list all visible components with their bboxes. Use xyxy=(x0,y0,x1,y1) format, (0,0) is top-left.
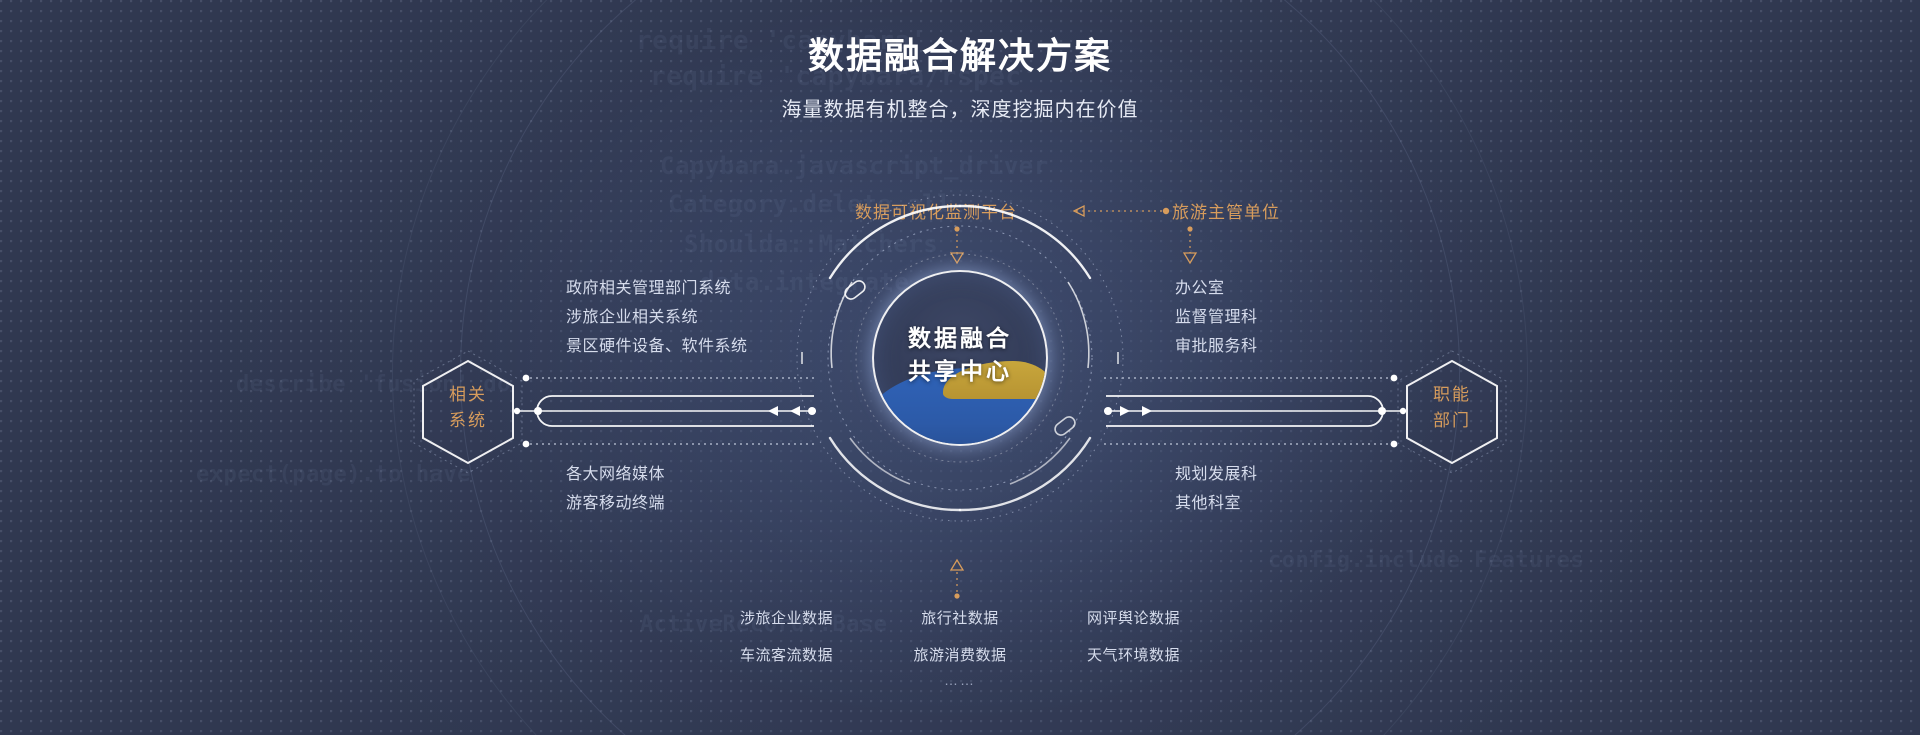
background-code-line: config.include Features xyxy=(1268,548,1584,573)
left-sources-top-list: 政府相关管理部门系统 涉旅企业相关系统 景区硬件设备、软件系统 xyxy=(566,274,748,361)
right-departments-top-list: 办公室 监督管理科 审批服务科 xyxy=(1175,274,1258,361)
bottom-data-ellipsis: …… xyxy=(0,672,1920,688)
bottom-data-cell[interactable]: 旅游消费数据 xyxy=(913,637,1006,674)
page-title: 数据融合解决方案 xyxy=(0,34,1920,77)
list-item[interactable]: 各大网络媒体 xyxy=(566,460,665,489)
hexagon-left-line2: 系统 xyxy=(420,408,516,434)
bottom-data-cell[interactable]: 网评舆论数据 xyxy=(1087,600,1180,637)
list-item[interactable]: 其他科室 xyxy=(1175,489,1258,518)
left-flow-connector xyxy=(516,372,836,450)
background-code-line: Capybara.javascript_driver xyxy=(660,152,1049,180)
list-item[interactable]: 游客移动终端 xyxy=(566,489,665,518)
core-label-line1: 数据融合 xyxy=(850,322,1070,355)
list-item[interactable]: 景区硬件设备、软件系统 xyxy=(566,332,748,361)
hexagon-right-line2: 部门 xyxy=(1404,408,1500,434)
hexagon-functional-departments[interactable]: 职能 部门 xyxy=(1404,358,1500,466)
core-label-line2: 共享中心 xyxy=(850,355,1070,388)
hexagon-related-systems[interactable]: 相关 系统 xyxy=(420,358,516,466)
right-departments-bottom-list: 规划发展科 其他科室 xyxy=(1175,460,1258,518)
bottom-data-cell[interactable]: 天气环境数据 xyxy=(1087,637,1180,674)
list-item[interactable]: 政府相关管理部门系统 xyxy=(566,274,748,303)
bottom-data-row: 车流客流数据 旅游消费数据 天气环境数据 xyxy=(740,637,1180,674)
page-header: 数据融合解决方案 海量数据有机整合，深度挖掘内在价值 xyxy=(0,34,1920,122)
bottom-data-cell[interactable]: 车流客流数据 xyxy=(740,637,833,674)
list-item[interactable]: 办公室 xyxy=(1175,274,1258,303)
left-sources-bottom-list: 各大网络媒体 游客移动终端 xyxy=(566,460,665,518)
bottom-data-grid: 涉旅企业数据 旅行社数据 网评舆论数据 车流客流数据 旅游消费数据 天气环境数据 xyxy=(740,600,1180,674)
label-tourism-authority[interactable]: 旅游主管单位 xyxy=(1172,198,1280,223)
infographic-canvas: require 'capybara' require 'capybara/rsp… xyxy=(0,0,1920,735)
list-item[interactable]: 监督管理科 xyxy=(1175,303,1258,332)
right-flow-connector xyxy=(1084,372,1404,450)
label-visualization-platform[interactable]: 数据可视化监测平台 xyxy=(855,198,1017,223)
data-fusion-core[interactable]: 数据融合 共享中心 xyxy=(850,248,1070,468)
list-item[interactable]: 涉旅企业相关系统 xyxy=(566,303,748,332)
bottom-data-row: 涉旅企业数据 旅行社数据 网评舆论数据 xyxy=(740,600,1180,637)
hexagon-left-line1: 相关 xyxy=(420,382,516,408)
core-label: 数据融合 共享中心 xyxy=(850,322,1070,387)
authority-drop-connector xyxy=(1178,226,1202,268)
list-item[interactable]: 规划发展科 xyxy=(1175,460,1258,489)
bottom-data-up-connector xyxy=(945,556,969,602)
list-item[interactable]: 审批服务科 xyxy=(1175,332,1258,361)
hexagon-left-label: 相关 系统 xyxy=(420,382,516,434)
bottom-data-cell[interactable]: 涉旅企业数据 xyxy=(740,600,833,637)
bottom-data-cell[interactable]: 旅行社数据 xyxy=(921,600,999,637)
page-subtitle: 海量数据有机整合，深度挖掘内在价值 xyxy=(0,93,1920,122)
hexagon-right-label: 职能 部门 xyxy=(1404,382,1500,434)
accent-connector xyxy=(1060,200,1180,224)
hexagon-right-line1: 职能 xyxy=(1404,382,1500,408)
